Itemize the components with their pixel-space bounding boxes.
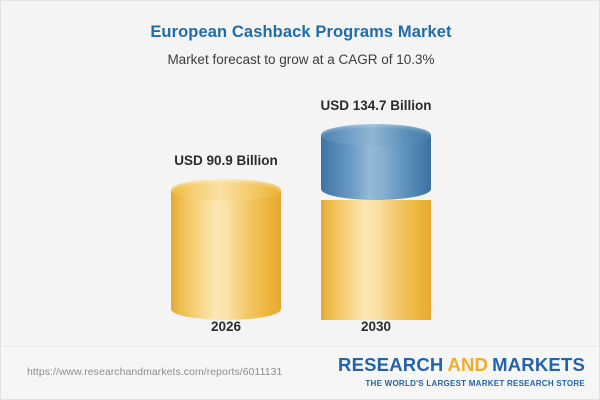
brand-logo: RESEARCHANDMARKETS THE WORLD'S LARGEST M… [338,356,585,388]
infographic-card: European Cashback Programs Market Market… [0,0,600,400]
cylinder-body-2026 [171,190,281,309]
cylinder-segment-base-2026 [171,179,281,309]
category-label-2030: 2030 [291,319,461,334]
brand-tagline: THE WORLD'S LARGEST MARKET RESEARCH STOR… [338,380,585,388]
cylinder-segment-growth-2030 [321,124,431,189]
bar-group-2026: USD 90.9 Billion 2026 [141,91,311,341]
category-label-2026: 2026 [141,319,311,334]
cylinder-segment-base-2030 [321,189,431,309]
brand-word-and: AND [447,354,488,375]
bar-value-label-2026: USD 90.9 Billion [141,153,311,168]
cylinder-2030 [321,124,431,309]
chart-header: European Cashback Programs Market Market… [1,1,600,67]
bar-value-label-2030: USD 134.7 Billion [291,98,461,113]
bar-group-2030: USD 134.7 Billion 2030 [291,91,461,341]
footer-bar: https://www.researchandmarkets.com/repor… [1,346,600,399]
page-title: European Cashback Programs Market [1,1,600,42]
cylinder-top-cap-2030 [321,124,431,146]
cylinder-body-base-2030 [321,200,431,320]
chart-plot-area: USD 90.9 Billion 2026 USD 134.7 Billion [1,91,600,341]
report-url[interactable]: https://www.researchandmarkets.com/repor… [27,366,282,378]
cylinder-2026 [171,179,281,309]
brand-wordmark: RESEARCHANDMARKETS [338,356,585,375]
brand-word-research: RESEARCH [338,354,443,375]
chart-subtitle: Market forecast to grow at a CAGR of 10.… [1,42,600,67]
cylinder-top-cap-2026 [171,179,281,201]
brand-word-markets: MARKETS [492,354,585,375]
